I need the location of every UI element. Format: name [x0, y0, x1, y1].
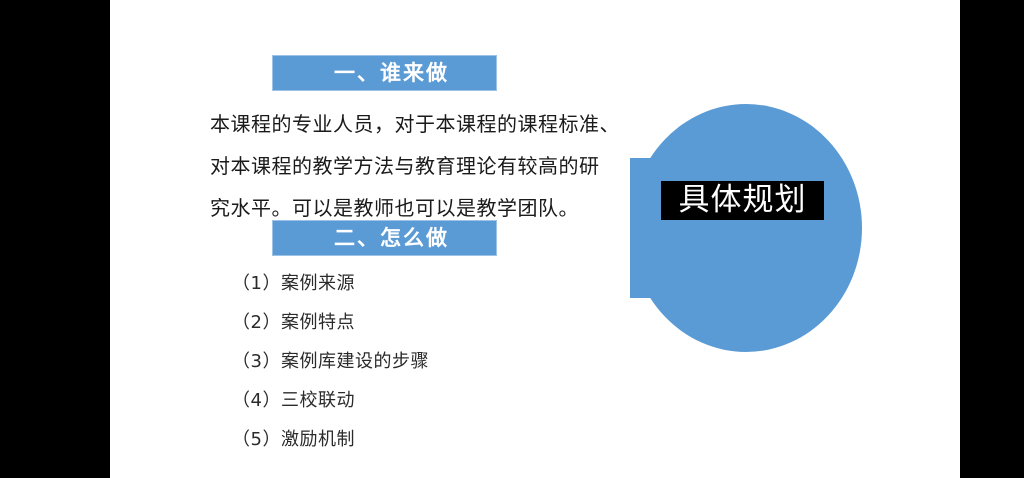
blue-circle-flat-edge [630, 158, 690, 298]
slide-canvas: 一、谁来做 本课程的专业人员，对于本课程的课程标准、 对本课程的教学方法与教育理… [110, 0, 960, 478]
heading-banner-who-label: 一、谁来做 [273, 56, 496, 90]
heading-banner-how: 二、怎么做 [272, 220, 497, 256]
circle-label: 具体规划 [661, 181, 824, 220]
list-item: （1）案例来源 [232, 264, 429, 303]
slide-stage: 一、谁来做 本课程的专业人员，对于本课程的课程标准、 对本课程的教学方法与教育理… [0, 0, 1024, 478]
letterbox-bar-right [960, 0, 1024, 478]
letterbox-bar-left [0, 0, 110, 478]
heading-banner-who: 一、谁来做 [272, 55, 497, 91]
body-paragraph-line: 本课程的专业人员，对于本课程的课程标准、 [210, 103, 738, 145]
heading-banner-how-label: 二、怎么做 [273, 221, 496, 255]
list-item: （4）三校联动 [232, 381, 429, 420]
numbered-list: （1）案例来源 （2）案例特点 （3）案例库建设的步骤 （4）三校联动 （5）激… [232, 264, 429, 459]
list-item: （2）案例特点 [232, 303, 429, 342]
list-item: （5）激励机制 [232, 420, 429, 459]
list-item: （3）案例库建设的步骤 [232, 342, 429, 381]
